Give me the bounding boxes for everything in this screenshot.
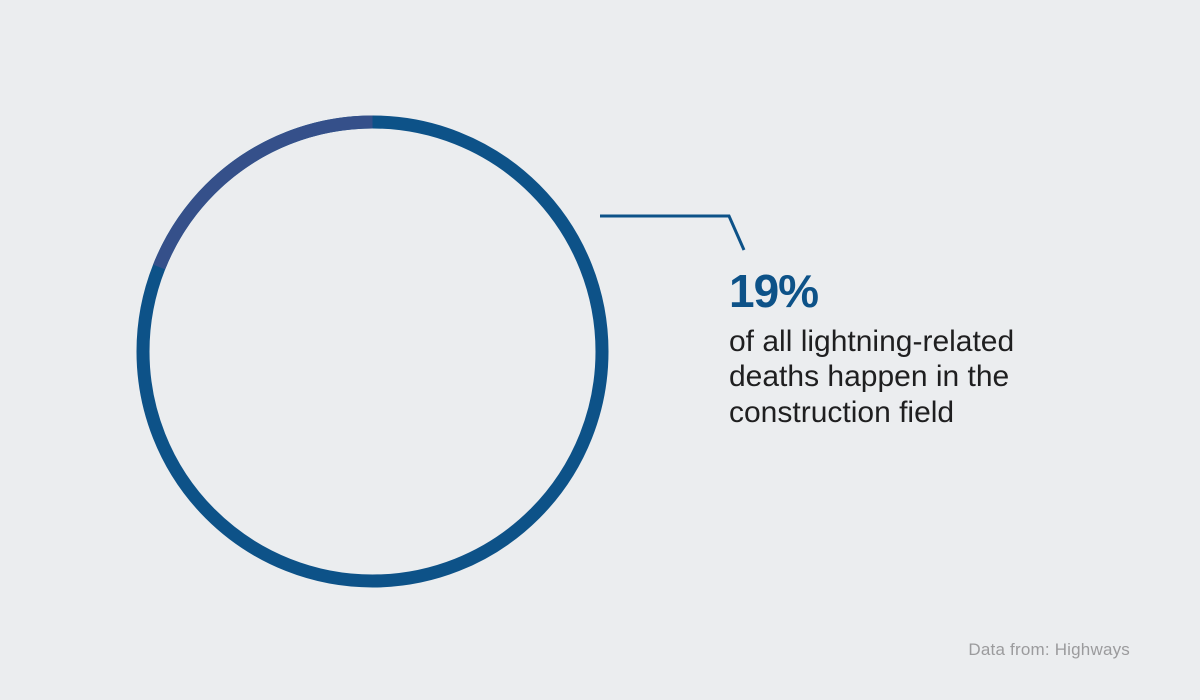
- donut-slice-construction-field: [159, 122, 372, 267]
- callout-description: of all lightning-related deaths happen i…: [729, 324, 1074, 430]
- callout-leader-line: [600, 216, 744, 250]
- callout-block: 19% of all lightning-related deaths happ…: [729, 268, 1149, 430]
- infographic-canvas: 19% of all lightning-related deaths happ…: [0, 0, 1200, 700]
- data-source-note: Data from: Highways: [968, 640, 1130, 660]
- callout-percentage-value: 19%: [729, 268, 1149, 314]
